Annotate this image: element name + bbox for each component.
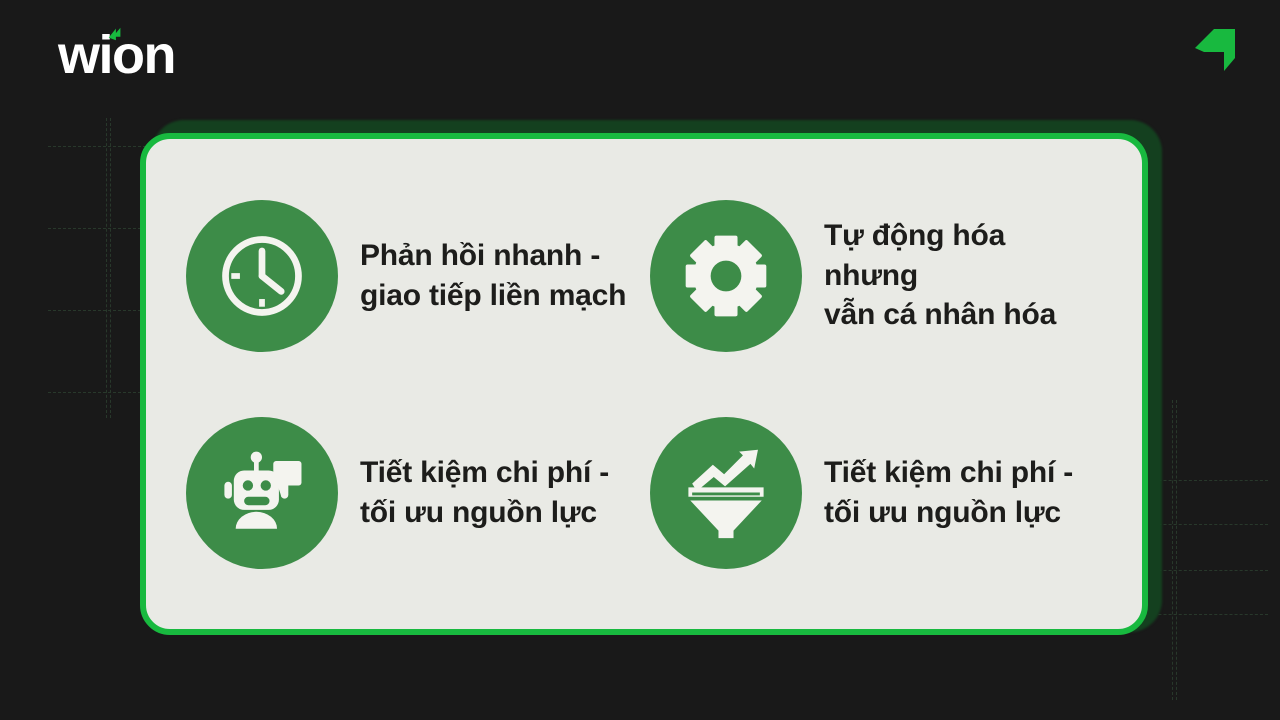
- grid-line: [106, 118, 107, 418]
- grid-line: [110, 118, 111, 418]
- feature-item-label: Phản hồi nhanh - giao tiếp liền mạch: [360, 236, 626, 316]
- gear-icon: [650, 200, 802, 352]
- arrow-up-right-mark: [1190, 26, 1240, 78]
- feature-item-response-speed[interactable]: Phản hồi nhanh - giao tiếp liền mạch: [180, 167, 644, 384]
- grid-line: [1176, 400, 1177, 700]
- brand-logo[interactable]: wion: [58, 28, 175, 82]
- feature-item-automation[interactable]: Tự động hóa nhưng vẫn cá nhân hóa: [644, 167, 1108, 384]
- feature-item-cost-saving-funnel[interactable]: Tiết kiệm chi phí - tối ưu nguồn lực: [644, 384, 1108, 601]
- feature-item-label: Tiết kiệm chi phí - tối ưu nguồn lực: [824, 453, 1073, 533]
- robot-chat-icon: [186, 417, 338, 569]
- clock-icon: [186, 200, 338, 352]
- funnel-growth-icon: [650, 417, 802, 569]
- feature-item-cost-saving-bot[interactable]: Tiết kiệm chi phí - tối ưu nguồn lực: [180, 384, 644, 601]
- feature-card: Phản hồi nhanh - giao tiếp liền mạch: [140, 133, 1148, 635]
- feature-item-label: Tự động hóa nhưng vẫn cá nhân hóa: [824, 216, 1102, 336]
- green-arrow-mark: [106, 25, 124, 43]
- feature-item-label: Tiết kiệm chi phí - tối ưu nguồn lực: [360, 453, 609, 533]
- grid-line: [1172, 400, 1173, 700]
